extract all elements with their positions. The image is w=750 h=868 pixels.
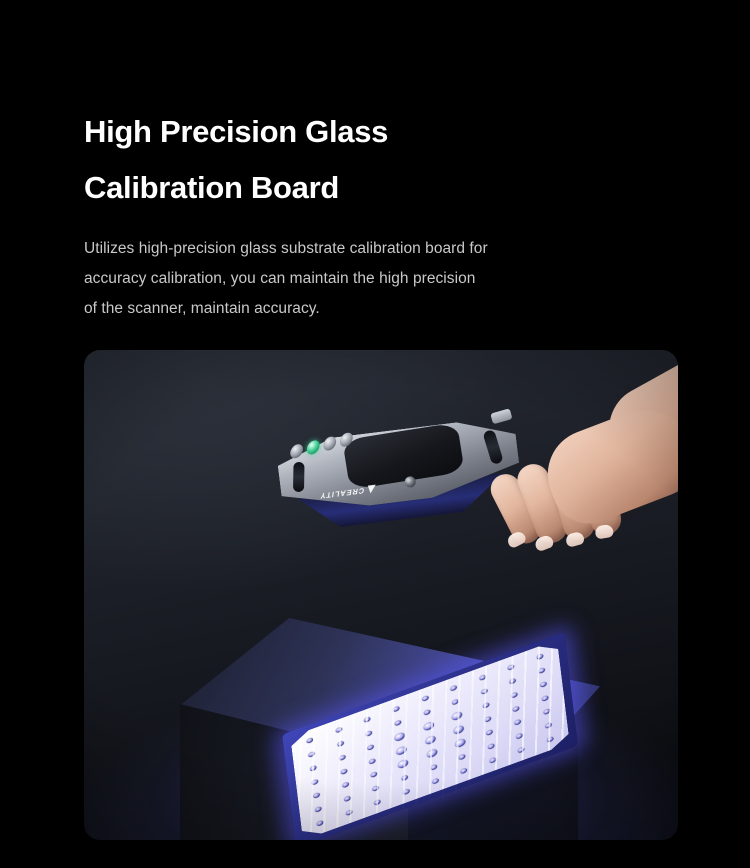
- triangle-logo-icon: [366, 485, 375, 494]
- page-title: High Precision Glass Calibration Board: [84, 104, 664, 216]
- scanner-button: [339, 431, 353, 448]
- promo-page: High Precision Glass Calibration Board U…: [0, 0, 750, 868]
- page-description: Utilizes high-precision glass substrate …: [84, 216, 664, 324]
- copy-block: High Precision Glass Calibration Board U…: [84, 104, 664, 324]
- scanner-button: [323, 435, 337, 452]
- handheld-3d-scanner: CREALITY: [245, 395, 549, 559]
- scanner-power-button: [306, 439, 320, 456]
- fingernail: [594, 524, 614, 540]
- hand: [479, 357, 678, 586]
- product-image-panel: CREALITY: [84, 350, 678, 840]
- scanner-left-lens: [293, 462, 305, 492]
- scanner-button: [290, 442, 304, 459]
